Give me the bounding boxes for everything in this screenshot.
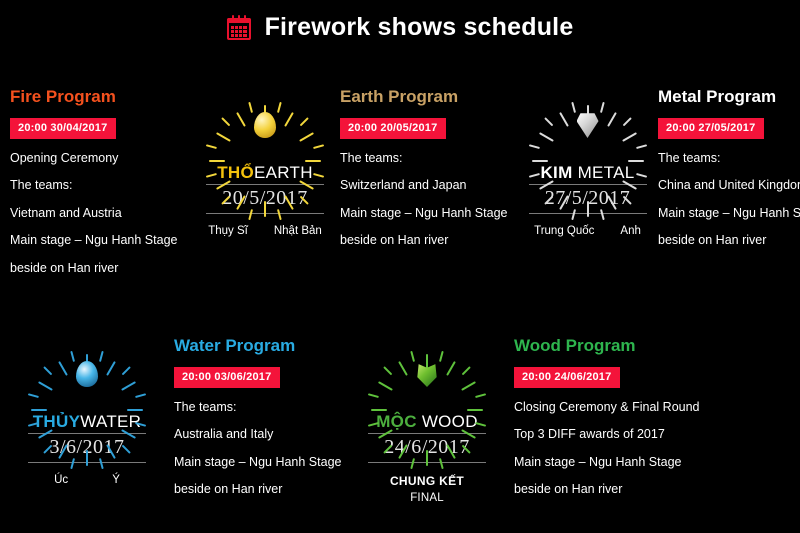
program-block-earth[interactable]: Earth Program 20:00 20/05/2017 The teams… bbox=[330, 88, 525, 274]
program-details-water: The teams: Australia and Italy Main stag… bbox=[174, 401, 362, 496]
burst-ray bbox=[31, 409, 47, 411]
team-left: Trung Quốc bbox=[534, 225, 594, 237]
burst-ray bbox=[122, 366, 131, 375]
burst-ray bbox=[607, 112, 617, 127]
detail-line: Opening Ceremony bbox=[10, 152, 200, 165]
burst-ray bbox=[461, 381, 476, 391]
row-spacer bbox=[0, 337, 22, 507]
sunburst-earth-icon bbox=[228, 88, 302, 162]
burst-ray bbox=[539, 132, 554, 142]
burst-ray bbox=[135, 393, 146, 398]
schedule-row-top: Fire Program 20:00 30/04/2017 Opening Ce… bbox=[0, 88, 800, 274]
program-logo-earth: THỔEARTH 20/5/2017 Thụy Sĩ Nhật Bản bbox=[200, 88, 330, 274]
logo-name-vi: THỦY bbox=[33, 412, 80, 431]
detail-line: The teams: bbox=[174, 401, 362, 414]
detail-line: beside on Han river bbox=[10, 262, 200, 275]
program-title-earth: Earth Program bbox=[340, 88, 525, 107]
page-title: Firework shows schedule bbox=[265, 15, 574, 40]
burst-ray bbox=[475, 393, 486, 398]
detail-line: Main stage – Ngu Hanh Stage bbox=[174, 456, 362, 469]
burst-ray bbox=[121, 381, 136, 391]
detail-line: Top 3 DIFF awards of 2017 bbox=[514, 428, 722, 441]
burst-ray bbox=[622, 132, 637, 142]
detail-line: Switzerland and Japan bbox=[340, 179, 525, 192]
logo-name-en: WATER bbox=[80, 412, 141, 431]
detail-line: Closing Ceremony & Final Round bbox=[514, 401, 722, 414]
burst-ray bbox=[99, 351, 104, 362]
logo-name-vi: MỘC bbox=[376, 412, 417, 431]
burst-ray bbox=[216, 132, 231, 142]
burst-ray bbox=[378, 381, 393, 391]
detail-line: Vietnam and Austria bbox=[10, 207, 200, 220]
detail-line: Main stage – Ngu Hanh Stage bbox=[514, 456, 722, 469]
burst-ray bbox=[248, 102, 253, 113]
detail-line: beside on Han river bbox=[658, 234, 800, 247]
burst-ray bbox=[70, 351, 75, 362]
burst-ray bbox=[371, 409, 387, 411]
logo-name-wood: MỘC WOOD bbox=[362, 413, 492, 430]
detail-line: Australia and Italy bbox=[174, 428, 362, 441]
burst-ray bbox=[628, 160, 644, 162]
logo-name-earth: THỔEARTH bbox=[200, 164, 330, 181]
burst-ray bbox=[86, 450, 88, 466]
program-title-metal: Metal Program bbox=[658, 88, 800, 107]
burst-ray bbox=[559, 112, 569, 127]
burst-ray bbox=[284, 112, 294, 127]
burst-ray bbox=[410, 351, 415, 362]
burst-ray bbox=[446, 361, 456, 376]
burst-ray bbox=[43, 366, 52, 375]
burst-ray bbox=[313, 144, 324, 149]
burst-ray bbox=[544, 117, 553, 126]
detail-line: The teams: bbox=[10, 179, 200, 192]
burst-ray bbox=[277, 102, 282, 113]
program-details-fire: Opening Ceremony The teams: Vietnam and … bbox=[10, 152, 200, 275]
team-right: Anh bbox=[620, 225, 640, 237]
calendar-icon bbox=[227, 15, 253, 41]
program-logo-wood: MỘC WOOD 24/6/2017 CHUNG KẾT FINAL bbox=[362, 337, 492, 507]
team-right: Ý bbox=[112, 474, 120, 486]
detail-line: Main stage – Ngu Hanh Stage bbox=[10, 234, 200, 247]
burst-ray bbox=[467, 409, 483, 411]
burst-ray bbox=[587, 201, 589, 217]
sunburst-metal-icon bbox=[551, 88, 625, 162]
burst-ray bbox=[426, 450, 428, 466]
program-details-earth: The teams: Switzerland and Japan Main st… bbox=[340, 152, 525, 247]
logo-name-en: EARTH bbox=[254, 163, 313, 182]
water-droplet-icon bbox=[76, 361, 98, 387]
program-block-metal[interactable]: Metal Program 20:00 27/05/2017 The teams… bbox=[650, 88, 800, 274]
program-details-metal: The teams: China and United Kingdom Main… bbox=[658, 152, 800, 247]
program-details-wood: Closing Ceremony & Final Round Top 3 DIF… bbox=[514, 401, 722, 496]
burst-ray bbox=[398, 361, 408, 376]
logo-name-en: WOOD bbox=[422, 412, 478, 431]
logo-teams-water: Úc Ý bbox=[22, 474, 152, 486]
sunburst-water-icon bbox=[50, 337, 124, 411]
final-en: FINAL bbox=[362, 490, 492, 507]
team-left: Thụy Sĩ bbox=[208, 225, 248, 237]
detail-line: The teams: bbox=[658, 152, 800, 165]
burst-ray bbox=[127, 409, 143, 411]
burst-ray bbox=[528, 144, 539, 149]
burst-ray bbox=[38, 381, 53, 391]
program-block-wood[interactable]: Wood Program 20:00 24/06/2017 Closing Ce… bbox=[492, 337, 722, 507]
detail-line: beside on Han river bbox=[340, 234, 525, 247]
detail-line: beside on Han river bbox=[514, 483, 722, 496]
burst-ray bbox=[206, 144, 217, 149]
burst-ray bbox=[532, 160, 548, 162]
logo-final-label: CHUNG KẾT FINAL bbox=[362, 473, 492, 507]
diamond-icon bbox=[577, 112, 599, 138]
logo-teams-earth: Thụy Sĩ Nhật Bản bbox=[200, 225, 330, 237]
program-badge-earth: 20:00 20/05/2017 bbox=[340, 118, 446, 139]
logo-name-en: METAL bbox=[578, 163, 635, 182]
burst-ray bbox=[622, 117, 631, 126]
program-block-water[interactable]: Water Program 20:00 03/06/2017 The teams… bbox=[152, 337, 362, 507]
burst-ray bbox=[439, 351, 444, 362]
burst-ray bbox=[209, 160, 225, 162]
burst-ray bbox=[636, 144, 647, 149]
program-title-fire: Fire Program bbox=[10, 88, 200, 107]
program-badge-wood: 20:00 24/06/2017 bbox=[514, 367, 620, 388]
logo-name-water: THỦYWATER bbox=[22, 413, 152, 430]
program-logo-water: THỦYWATER 3/6/2017 Úc Ý bbox=[22, 337, 152, 507]
burst-ray bbox=[305, 160, 321, 162]
final-vi: CHUNG KẾT bbox=[362, 473, 492, 490]
logo-name-metal: KIM METAL bbox=[525, 164, 650, 181]
logo-teams-metal: Trung Quốc Anh bbox=[525, 225, 650, 237]
logo-name-vi: THỔ bbox=[217, 163, 254, 182]
detail-line: beside on Han river bbox=[174, 483, 362, 496]
detail-line: The teams: bbox=[340, 152, 525, 165]
burst-ray bbox=[383, 366, 392, 375]
burst-ray bbox=[599, 102, 604, 113]
burst-ray bbox=[28, 393, 39, 398]
burst-ray bbox=[106, 361, 116, 376]
program-badge-fire: 20:00 30/04/2017 bbox=[10, 118, 116, 139]
burst-ray bbox=[571, 102, 576, 113]
sunburst-wood-icon bbox=[390, 337, 464, 411]
detail-line: Main stage – Ngu Hanh Stage bbox=[658, 207, 800, 220]
program-badge-metal: 20:00 27/05/2017 bbox=[658, 118, 764, 139]
burst-ray bbox=[58, 361, 68, 376]
detail-line: China and United Kingdom bbox=[658, 179, 800, 192]
burst-ray bbox=[368, 393, 379, 398]
burst-ray bbox=[264, 201, 266, 217]
detail-line: Main stage – Ngu Hanh Stage bbox=[340, 207, 525, 220]
program-badge-water: 20:00 03/06/2017 bbox=[174, 367, 280, 388]
burst-ray bbox=[462, 366, 471, 375]
burst-ray bbox=[221, 117, 230, 126]
program-logo-metal: KIM METAL 27/5/2017 Trung Quốc Anh bbox=[525, 88, 650, 274]
team-right: Nhật Bản bbox=[274, 225, 322, 237]
program-title-wood: Wood Program bbox=[514, 337, 722, 356]
program-block-fire[interactable]: Fire Program 20:00 30/04/2017 Opening Ce… bbox=[0, 88, 200, 274]
burst-ray bbox=[299, 132, 314, 142]
burst-ray bbox=[300, 117, 309, 126]
schedule-row-bottom: THỦYWATER 3/6/2017 Úc Ý Water Program 20… bbox=[0, 337, 800, 507]
logo-name-vi: KIM bbox=[540, 163, 572, 182]
program-title-water: Water Program bbox=[174, 337, 362, 356]
team-left: Úc bbox=[54, 474, 68, 486]
page-header: Firework shows schedule bbox=[0, 0, 800, 44]
earth-orb-icon bbox=[254, 112, 276, 138]
burst-ray bbox=[236, 112, 246, 127]
